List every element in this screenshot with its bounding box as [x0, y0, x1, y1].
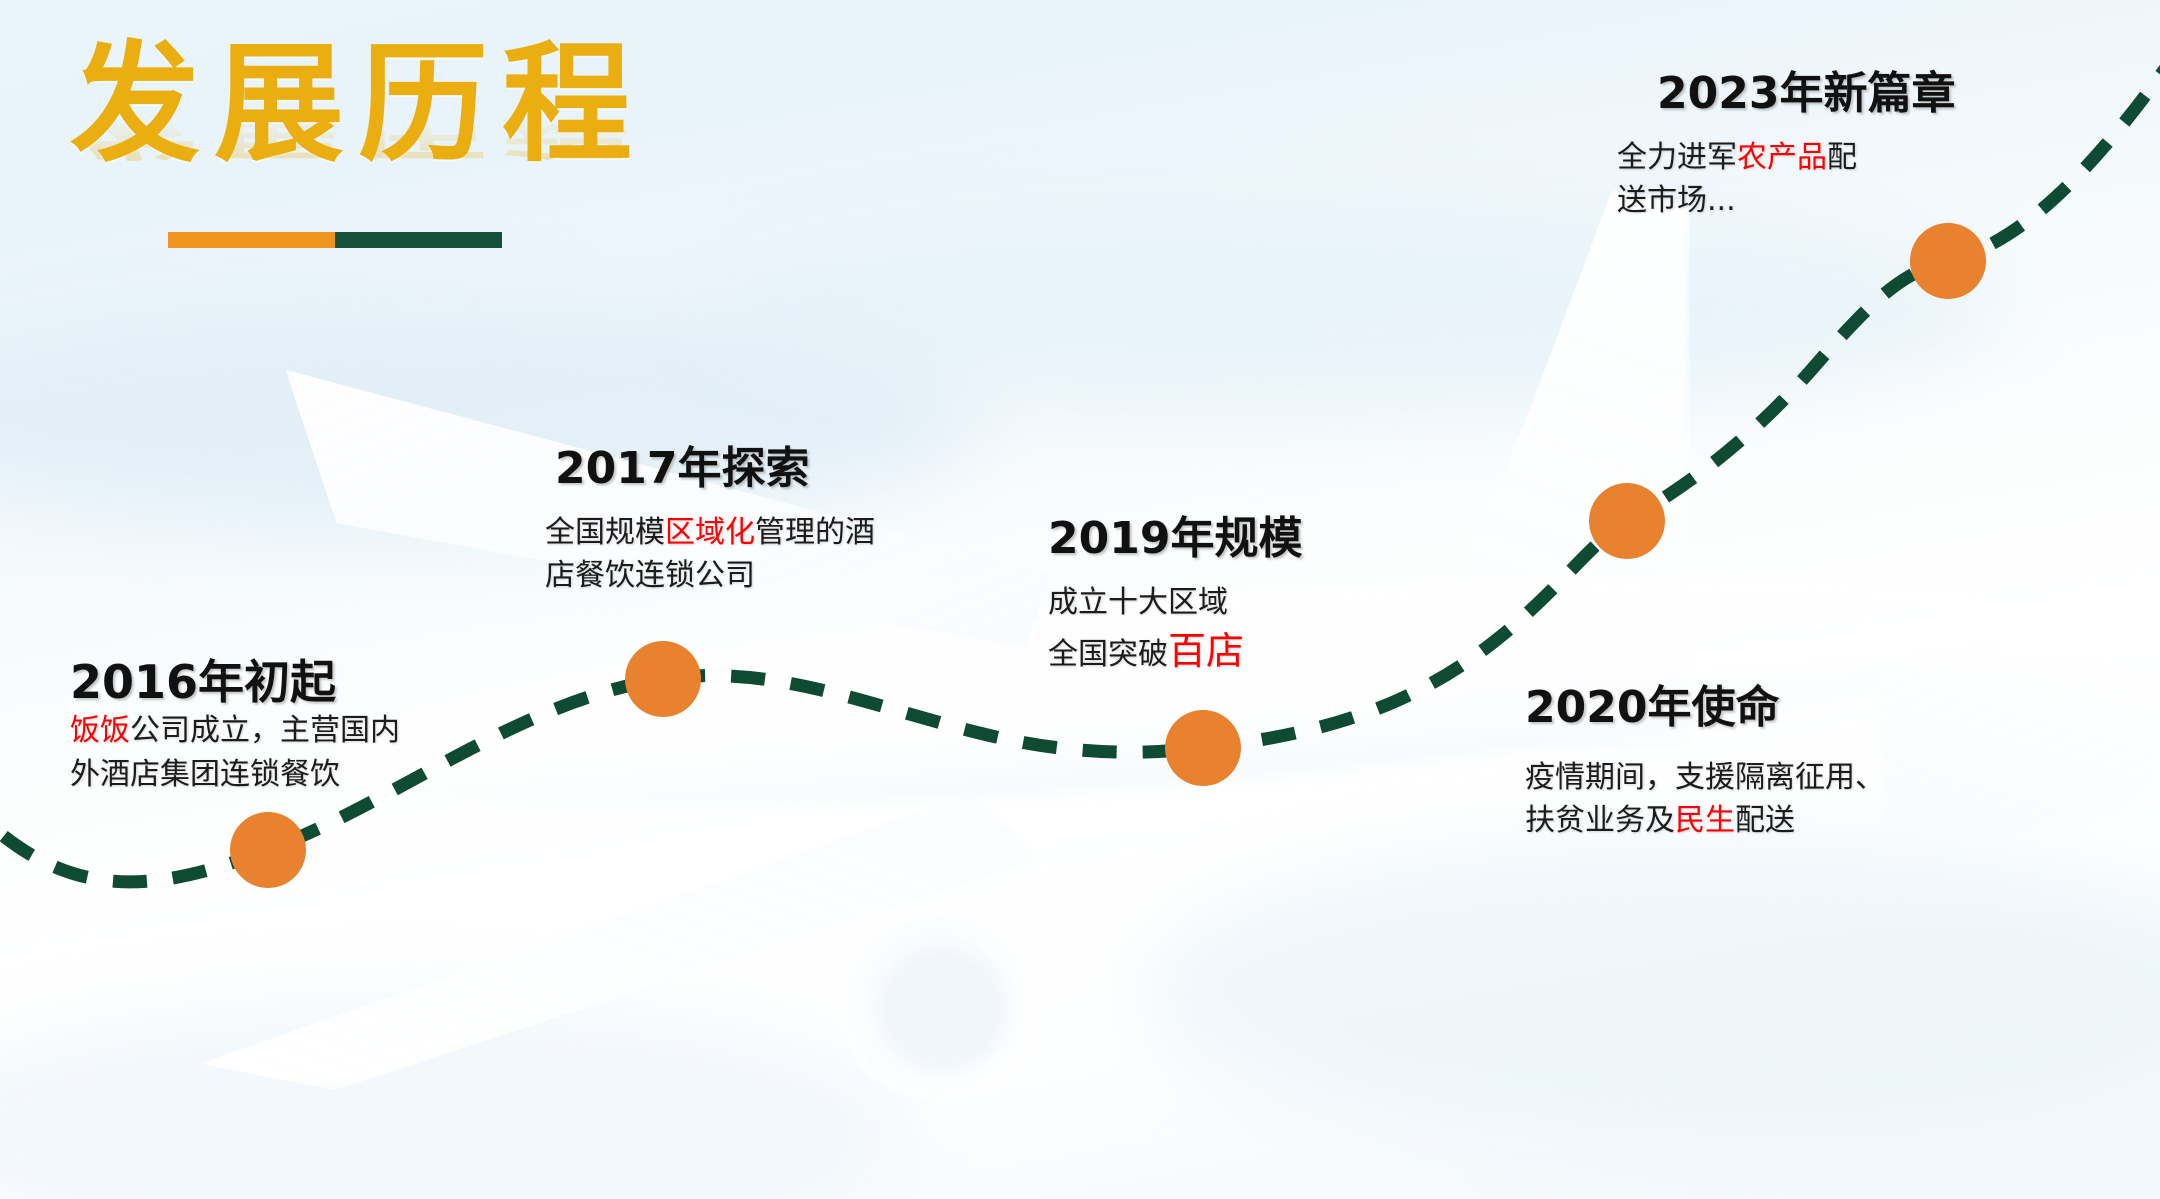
body-text: 疫情期间，支援隔离征用、 [1525, 760, 1885, 795]
milestone-2023[interactable]: 2023年新篇章 全力进军农产品配送市场... [1617, 68, 1955, 223]
milestone-2019[interactable]: 2019年规模 成立十大区域全国突破百店 [1048, 513, 1302, 680]
milestone-2020[interactable]: 2020年使命 疫情期间，支援隔离征用、扶贫业务及民生配送 [1525, 682, 1885, 843]
highlight-text: 民生 [1675, 803, 1735, 838]
milestone-2023-year: 2023年新篇章 [1657, 68, 1955, 120]
milestone-2017[interactable]: 2017年探索 全国规模区域化管理的酒店餐饮连锁公司 [545, 443, 875, 598]
milestone-2017-body: 全国规模区域化管理的酒店餐饮连锁公司 [545, 511, 875, 598]
body-text: 扶贫业务及 [1525, 803, 1675, 838]
highlight-text: 饭饭 [70, 713, 130, 748]
highlight-text: 百店 [1168, 629, 1244, 673]
timeline-node-2023[interactable] [1910, 223, 1986, 299]
timeline-node-2019[interactable] [1165, 710, 1241, 786]
milestone-2016-year: 2016年初起 [70, 655, 400, 709]
milestone-2016-line: 饭饭公司成立，主营国内 [70, 709, 400, 753]
milestone-2023-line: 全力进军农产品配 [1617, 136, 1955, 180]
body-text: 管理的酒 [755, 515, 875, 550]
milestone-2017-line: 店餐饮连锁公司 [545, 554, 875, 598]
milestone-2016[interactable]: 2016年初起 饭饭公司成立，主营国内外酒店集团连锁餐饮 [70, 655, 400, 796]
milestone-2020-line: 扶贫业务及民生配送 [1525, 799, 1885, 843]
highlight-text: 农产品 [1737, 140, 1827, 175]
body-text: 成立十大区域 [1048, 585, 1228, 620]
body-text: 全国突破 [1048, 637, 1168, 672]
body-text: 外酒店集团连锁餐饮 [70, 757, 340, 792]
timeline-node-2017[interactable] [625, 641, 701, 717]
timeline-node-2016[interactable] [230, 812, 306, 888]
milestone-2019-body: 成立十大区域全国突破百店 [1048, 581, 1302, 680]
body-text: 全国规模 [545, 515, 665, 550]
milestone-2016-line: 外酒店集团连锁餐饮 [70, 753, 400, 797]
milestone-2019-line: 全国突破百店 [1048, 624, 1302, 679]
milestone-2023-line: 送市场... [1617, 179, 1955, 223]
body-text: 送市场... [1617, 183, 1736, 218]
milestone-2016-body: 饭饭公司成立，主营国内外酒店集团连锁餐饮 [70, 709, 400, 796]
timeline-node-2020[interactable] [1589, 483, 1665, 559]
milestone-2017-line: 全国规模区域化管理的酒 [545, 511, 875, 555]
milestone-2023-body: 全力进军农产品配送市场... [1617, 136, 1955, 223]
milestone-2019-year: 2019年规模 [1048, 513, 1302, 565]
milestone-2019-line: 成立十大区域 [1048, 581, 1302, 625]
highlight-text: 区域化 [665, 515, 755, 550]
milestone-2017-year: 2017年探索 [555, 443, 875, 495]
body-text: 全力进军 [1617, 140, 1737, 175]
body-text: 店餐饮连锁公司 [545, 558, 755, 593]
body-text: 配送 [1735, 803, 1795, 838]
body-text: 配 [1827, 140, 1857, 175]
milestone-2020-body: 疫情期间，支援隔离征用、扶贫业务及民生配送 [1525, 756, 1885, 843]
body-text: 公司成立，主营国内 [130, 713, 400, 748]
milestone-2020-year: 2020年使命 [1525, 682, 1885, 734]
milestone-2020-line: 疫情期间，支援隔离征用、 [1525, 756, 1885, 800]
